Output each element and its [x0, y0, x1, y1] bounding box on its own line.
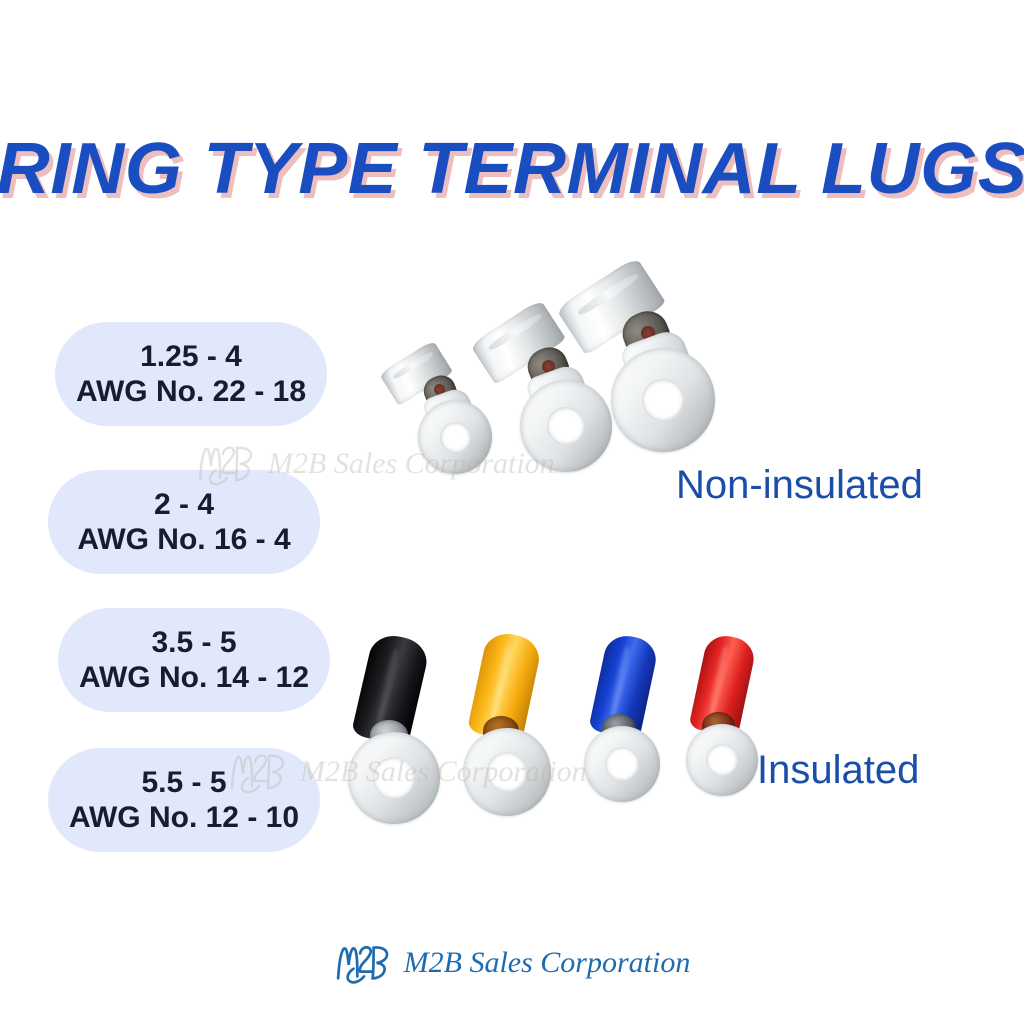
spec-pill-1: 1.25 - 4 AWG No. 22 - 18: [55, 322, 327, 426]
insulated-lug-black: [340, 636, 460, 828]
m2b-monogram-icon: [334, 940, 394, 986]
spec-awg: AWG No. 12 - 10: [69, 800, 299, 835]
spec-size: 3.5 - 5: [151, 625, 236, 660]
spec-size: 2 - 4: [154, 487, 214, 522]
spec-pill-3: 3.5 - 5 AWG No. 14 - 12: [58, 608, 330, 712]
footer-logo: M2B Sales Corporation: [0, 940, 1024, 986]
infographic-canvas: RING TYPE TERMINAL LUGS 1.25 - 4 AWG No.…: [0, 0, 1024, 1024]
non-insulated-lug-large: [565, 278, 745, 466]
spec-awg: AWG No. 14 - 12: [79, 660, 309, 695]
category-label-non-insulated: Non-insulated: [676, 463, 923, 508]
ring-hole: [487, 752, 527, 792]
spec-pill-4: 5.5 - 5 AWG No. 12 - 10: [48, 748, 320, 852]
category-label-insulated: Insulated: [757, 748, 919, 793]
page-title: RING TYPE TERMINAL LUGS: [0, 128, 1024, 210]
spec-awg: AWG No. 16 - 4: [77, 522, 290, 557]
ring-hole: [706, 744, 738, 776]
company-name: M2B Sales Corporation: [404, 946, 691, 980]
ring-hole: [373, 757, 415, 799]
insulated-lug-blue: [578, 636, 688, 814]
ring-hole: [605, 747, 639, 781]
spec-awg: AWG No. 22 - 18: [76, 374, 306, 409]
spec-size: 1.25 - 4: [140, 339, 242, 374]
insulated-lug-yellow: [455, 634, 575, 824]
ring-hole: [642, 379, 684, 421]
ring-hole: [440, 422, 471, 453]
spec-pill-2: 2 - 4 AWG No. 16 - 4: [48, 470, 320, 574]
spec-size: 5.5 - 5: [141, 765, 226, 800]
